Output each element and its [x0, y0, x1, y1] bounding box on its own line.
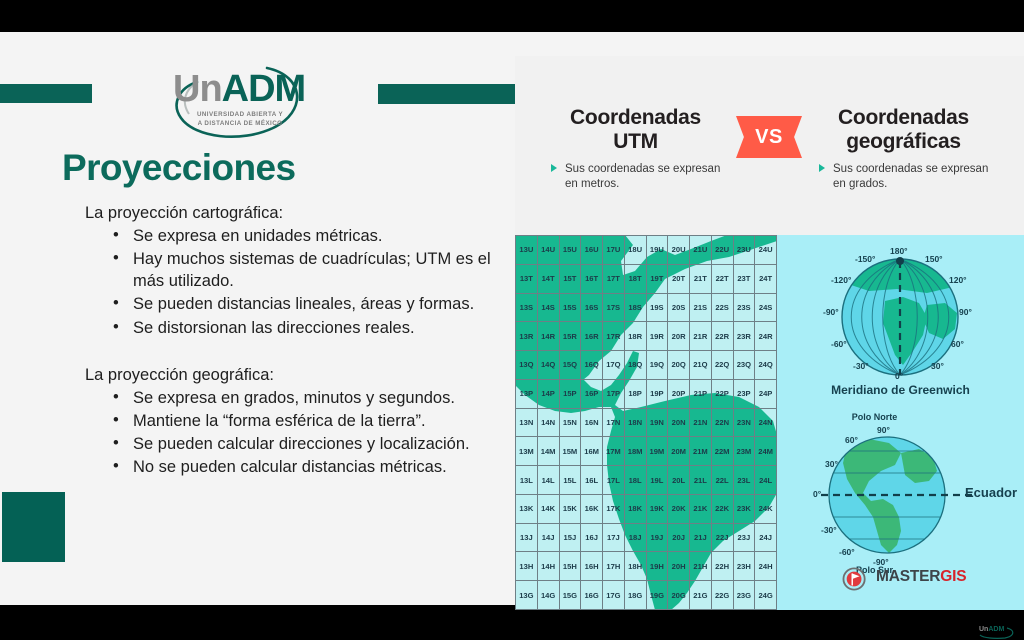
- utm-grid-cell: 13U: [516, 236, 538, 265]
- utm-grid-cell: 14Q: [537, 351, 559, 380]
- bullet-glyph: •: [113, 386, 119, 408]
- utm-grid-cell: 13T: [516, 264, 538, 293]
- utm-grid-cell: 22Q: [711, 351, 733, 380]
- utm-grid-cell: 21H: [690, 552, 712, 581]
- label-60: 60°: [845, 435, 858, 445]
- logo-subtitle-line2: A DISTANCIA DE MÉXICO: [180, 120, 300, 129]
- watermark-text: UnADM: [979, 626, 1004, 633]
- header-subtitle-utm: Sus coordenadas se expresan en metros.: [543, 162, 728, 191]
- utm-grid-cell: 17L: [603, 466, 625, 495]
- watermark-un-text: Un: [979, 626, 988, 633]
- utm-grid-cell: 22S: [711, 293, 733, 322]
- bullet-glyph: •: [113, 409, 119, 431]
- triangle-bullet-icon: [551, 164, 557, 172]
- mastergis-logo: MASTERGIS: [842, 565, 982, 591]
- decor-bar-left: [0, 84, 92, 103]
- utm-grid-cell: 21M: [690, 437, 712, 466]
- label-90: 90°: [877, 425, 890, 435]
- utm-grid-cell: 14T: [537, 264, 559, 293]
- utm-grid-cell: 20R: [668, 322, 690, 351]
- globe-bottom-caption-top: Polo Norte: [751, 412, 998, 422]
- utm-grid-cell: 21P: [690, 379, 712, 408]
- utm-grid-cell: 14R: [537, 322, 559, 351]
- utm-grid-cell: 24M: [755, 437, 777, 466]
- utm-grid-cell: 17S: [603, 293, 625, 322]
- label-30: 30°: [825, 459, 838, 469]
- bullet-glyph: •: [113, 292, 119, 314]
- utm-grid-cell: 15P: [559, 379, 581, 408]
- text-block-cartografica: La proyección cartográfica: •Se expresa …: [85, 202, 505, 340]
- logo-wordmark: UnADM: [173, 70, 305, 108]
- utm-grid-cell: 15K: [559, 494, 581, 523]
- utm-grid-cell: 19G: [646, 581, 668, 610]
- label-0: 0°: [813, 489, 821, 499]
- utm-grid-cell: 18J: [624, 523, 646, 552]
- utm-grid-cell: 19S: [646, 293, 668, 322]
- utm-grid-cell: 14P: [537, 379, 559, 408]
- section-lead: La proyección cartográfica:: [85, 202, 505, 224]
- label-neg60: -60°: [839, 547, 855, 557]
- utm-grid-cell: 14U: [537, 236, 559, 265]
- utm-grid-cell: 21Q: [690, 351, 712, 380]
- utm-grid-cell: 21N: [690, 408, 712, 437]
- utm-grid-cell: 23S: [733, 293, 755, 322]
- header-title-utm: Coordenadas UTM: [543, 106, 728, 153]
- utm-grid-cell: 24S: [755, 293, 777, 322]
- list-item: •No se pueden calcular distancias métric…: [85, 456, 505, 478]
- utm-grid-cell: 20G: [668, 581, 690, 610]
- label-neg120: -120°: [831, 275, 851, 285]
- utm-grid-cell: 16M: [581, 437, 603, 466]
- utm-grid-cell: 23J: [733, 523, 755, 552]
- utm-grid-cell: 19L: [646, 466, 668, 495]
- utm-grid-cell: 18Q: [624, 351, 646, 380]
- utm-grid-row: 13J14J15J16J17J18J19J20J21J22J23J24J: [516, 523, 777, 552]
- header-title-geo-line2: geográficas: [811, 130, 996, 154]
- utm-grid-cell: 14H: [537, 552, 559, 581]
- list-item-label: Mantiene la “forma esférica de la tierra…: [133, 412, 426, 430]
- utm-grid-cell: 18M: [624, 437, 646, 466]
- utm-grid-cell: 24L: [755, 466, 777, 495]
- utm-grid-cell: 20J: [668, 523, 690, 552]
- utm-grid-cell: 21T: [690, 264, 712, 293]
- header-column-utm: Coordenadas UTM Sus coordenadas se expre…: [543, 106, 728, 191]
- utm-grid-cell: 22N: [711, 408, 733, 437]
- label-180: 180°: [890, 246, 908, 256]
- utm-grid-cell: 16R: [581, 322, 603, 351]
- utm-grid-cell: 13P: [516, 379, 538, 408]
- bullet-list-cartografica: •Se expresa en unidades métricas. •Hay m…: [85, 225, 505, 339]
- list-item-label: Se distorsionan las direcciones reales.: [133, 319, 415, 337]
- utm-grid-cell: 14L: [537, 466, 559, 495]
- utm-grid-cell: 16L: [581, 466, 603, 495]
- utm-grid-cell: 15T: [559, 264, 581, 293]
- vs-badge: VS: [736, 116, 802, 158]
- utm-grid-row: 13G14G15G16G17G18G19G20G21G22G23G24G: [516, 581, 777, 610]
- utm-grid-map: 13U14U15U16U17U18U19U20U21U22U23U24U13T1…: [515, 235, 777, 610]
- label-150: 150°: [925, 254, 943, 264]
- label-60: 60°: [951, 339, 964, 349]
- utm-grid-cell: 24P: [755, 379, 777, 408]
- label-neg150: -150°: [855, 254, 875, 264]
- utm-grid-cell: 24R: [755, 322, 777, 351]
- utm-grid-row: 13M14M15M16M17M18M19M20M21M22M23M24M: [516, 437, 777, 466]
- utm-grid-cell: 15U: [559, 236, 581, 265]
- list-item: •Se pueden distancias lineales, áreas y …: [85, 293, 505, 315]
- utm-grid-cell: 14S: [537, 293, 559, 322]
- utm-grid-cell: 15M: [559, 437, 581, 466]
- utm-grid-cell: 22P: [711, 379, 733, 408]
- utm-grid-cell: 17G: [603, 581, 625, 610]
- utm-grid-cell: 23R: [733, 322, 755, 351]
- utm-grid-cell: 23K: [733, 494, 755, 523]
- utm-grid-cell: 13R: [516, 322, 538, 351]
- utm-grid-cell: 20N: [668, 408, 690, 437]
- list-item: •Se expresa en grados, minutos y segundo…: [85, 387, 505, 409]
- utm-grid-cell: 20K: [668, 494, 690, 523]
- utm-grid-cell: 15G: [559, 581, 581, 610]
- decor-square-bottom-left: [2, 492, 65, 562]
- page-title: Proyecciones: [62, 147, 295, 189]
- infographic-panel: Coordenadas UTM Sus coordenadas se expre…: [515, 56, 1024, 605]
- infographic-header: Coordenadas UTM Sus coordenadas se expre…: [515, 106, 1024, 206]
- utm-grid-cell: 15H: [559, 552, 581, 581]
- utm-grid-cell: 18N: [624, 408, 646, 437]
- utm-grid-cell: 13M: [516, 437, 538, 466]
- letterbox-top: [0, 0, 1024, 32]
- utm-grid-cell: 16P: [581, 379, 603, 408]
- utm-grid-cell: 19J: [646, 523, 668, 552]
- utm-grid-cell: 22G: [711, 581, 733, 610]
- utm-grid-cell: 18K: [624, 494, 646, 523]
- utm-grid-cell: 22H: [711, 552, 733, 581]
- utm-grid-cell: 14G: [537, 581, 559, 610]
- utm-grid-cell: 17T: [603, 264, 625, 293]
- label-neg30: -30°: [821, 525, 837, 535]
- mastergis-globe-icon: [842, 567, 868, 591]
- utm-grid-cell: 17K: [603, 494, 625, 523]
- utm-grid-cell: 23G: [733, 581, 755, 610]
- utm-grid-cell: 18T: [624, 264, 646, 293]
- utm-grid-cell: 16Q: [581, 351, 603, 380]
- utm-grid-cell: 13L: [516, 466, 538, 495]
- list-item: •Se distorsionan las direcciones reales.: [85, 317, 505, 339]
- utm-grid-row: 13Q14Q15Q16Q17Q18Q19Q20Q21Q22Q23Q24Q: [516, 351, 777, 380]
- utm-grid-cell: 18P: [624, 379, 646, 408]
- utm-grid-row: 13P14P15P16P17P18P19P20P21P22P23P24P: [516, 379, 777, 408]
- list-item-label: Hay muchos sistemas de cuadrículas; UTM …: [133, 250, 491, 290]
- utm-grid-cell: 19R: [646, 322, 668, 351]
- utm-grid-cell: 15L: [559, 466, 581, 495]
- label-ecuador: Ecuador: [965, 485, 1017, 500]
- utm-grid-cell: 13Q: [516, 351, 538, 380]
- triangle-bullet-icon: [819, 164, 825, 172]
- utm-grid-row: 13T14T15T16T17T18T19T20T21T22T23T24T: [516, 264, 777, 293]
- label-neg90: -90°: [823, 307, 839, 317]
- utm-grid-cell: 14N: [537, 408, 559, 437]
- utm-grid-cell: 24J: [755, 523, 777, 552]
- utm-grid-cell: 18U: [624, 236, 646, 265]
- header-subtitle-geografica: Sus coordenadas se expresan en grados.: [811, 162, 996, 191]
- utm-grid-cell: 14M: [537, 437, 559, 466]
- utm-grid-cell: 19K: [646, 494, 668, 523]
- utm-grid-row: 13L14L15L16L17L18L19L20L21L22L23L24L: [516, 466, 777, 495]
- utm-grid-cell: 14J: [537, 523, 559, 552]
- label-0: 0°: [895, 371, 903, 381]
- utm-grid-row: 13R14R15R16R17R18R19R20R21R22R23R24R: [516, 322, 777, 351]
- utm-grid-cell: 13H: [516, 552, 538, 581]
- label-90: 90°: [959, 307, 972, 317]
- utm-grid-cell: 21J: [690, 523, 712, 552]
- unadm-logo: UnADM UNIVERSIDAD ABIERTA Y A DISTANCIA …: [155, 62, 325, 144]
- utm-grid-cell: 18L: [624, 466, 646, 495]
- utm-grid-cell: 20M: [668, 437, 690, 466]
- utm-grid-cell: 17Q: [603, 351, 625, 380]
- label-neg60: -60°: [831, 339, 847, 349]
- logo-subtitle-line1: UNIVERSIDAD ABIERTA Y: [180, 111, 300, 120]
- utm-grid-cell: 23L: [733, 466, 755, 495]
- utm-grid-cell: 23T: [733, 264, 755, 293]
- presentation-slide: UnADM UNIVERSIDAD ABIERTA Y A DISTANCIA …: [0, 32, 1024, 605]
- logo-subtitle: UNIVERSIDAD ABIERTA Y A DISTANCIA DE MÉX…: [180, 111, 300, 129]
- globe-top-degree-labels: 180° -150° 150° -120° 120° -90° 90° -60°…: [777, 235, 1024, 405]
- utm-grid-cell: 17R: [603, 322, 625, 351]
- utm-grid-cell: 15Q: [559, 351, 581, 380]
- utm-grid-cell: 16U: [581, 236, 603, 265]
- list-item: •Se pueden calcular direcciones y locali…: [85, 433, 505, 455]
- bullet-glyph: •: [113, 455, 119, 477]
- bullet-glyph: •: [113, 316, 119, 338]
- utm-grid-cell: 16K: [581, 494, 603, 523]
- utm-grid-cell: 16S: [581, 293, 603, 322]
- mastergis-master-text: MASTER: [876, 568, 940, 585]
- list-item: •Se expresa en unidades métricas.: [85, 225, 505, 247]
- utm-grid-cell: 14K: [537, 494, 559, 523]
- utm-grid-cell: 22M: [711, 437, 733, 466]
- utm-grid-cell: 15J: [559, 523, 581, 552]
- utm-grid-cell: 24Q: [755, 351, 777, 380]
- utm-grid-cell: 17N: [603, 408, 625, 437]
- utm-grid-cell: 18R: [624, 322, 646, 351]
- utm-grid-cell: 21U: [690, 236, 712, 265]
- utm-grid-row: 13U14U15U16U17U18U19U20U21U22U23U24U: [516, 236, 777, 265]
- label-120: 120°: [949, 275, 967, 285]
- utm-grid-cell: 24G: [755, 581, 777, 610]
- header-title-geo-line1: Coordenadas: [811, 106, 996, 130]
- utm-grid-cell: 22T: [711, 264, 733, 293]
- utm-grid-cell: 24K: [755, 494, 777, 523]
- mastergis-wordmark: MASTERGIS: [876, 568, 966, 586]
- utm-grid-cell: 17H: [603, 552, 625, 581]
- utm-grid-cell: 16J: [581, 523, 603, 552]
- utm-grid-cell: 16N: [581, 408, 603, 437]
- list-item-label: Se pueden calcular direcciones y localiz…: [133, 435, 470, 453]
- utm-grid-cell: 15R: [559, 322, 581, 351]
- globe-top-caption: Meridiano de Greenwich: [777, 383, 1024, 397]
- header-title-utm-line2: UTM: [543, 130, 728, 154]
- utm-grid-cell: 24T: [755, 264, 777, 293]
- header-subtitle-utm-text: Sus coordenadas se expresan en metros.: [565, 163, 720, 190]
- header-subtitle-geo-text: Sus coordenadas se expresan en grados.: [833, 163, 988, 190]
- utm-grid-cell: 17U: [603, 236, 625, 265]
- utm-grid-cell: 17J: [603, 523, 625, 552]
- utm-grid-row: 13S14S15S16S17S18S19S20S21S22S23S24S: [516, 293, 777, 322]
- logo-un-text: Un: [173, 68, 222, 110]
- utm-grid-cell: 20H: [668, 552, 690, 581]
- utm-grid-cell: 23U: [733, 236, 755, 265]
- utm-grid-cell: 20L: [668, 466, 690, 495]
- utm-grid-cell: 13J: [516, 523, 538, 552]
- globe-bottom-degree-labels: 90° 60° 30° 0° -30° -60° -90° Ecuador: [777, 405, 1024, 580]
- utm-grid-cell: 22K: [711, 494, 733, 523]
- vs-label: VS: [736, 116, 802, 158]
- utm-grid-cell: 23Q: [733, 351, 755, 380]
- header-title-geografica: Coordenadas geográficas: [811, 106, 996, 153]
- utm-grid-cell: 20U: [668, 236, 690, 265]
- utm-grid-cell: 22R: [711, 322, 733, 351]
- utm-grid-cell: 19U: [646, 236, 668, 265]
- list-item-label: Se pueden distancias lineales, áreas y f…: [133, 295, 474, 313]
- list-item-label: No se pueden calcular distancias métrica…: [133, 458, 447, 476]
- bullet-list-geografica: •Se expresa en grados, minutos y segundo…: [85, 387, 505, 478]
- utm-grid-cell: 21L: [690, 466, 712, 495]
- utm-grid-cell: 13S: [516, 293, 538, 322]
- video-frame: UnADM UNIVERSIDAD ABIERTA Y A DISTANCIA …: [0, 0, 1024, 640]
- utm-grid-cell: 21G: [690, 581, 712, 610]
- utm-grid-cell: 20Q: [668, 351, 690, 380]
- utm-grid-cell: 17M: [603, 437, 625, 466]
- text-block-geografica: La proyección geográfica: •Se expresa en…: [85, 364, 505, 480]
- mastergis-gis-text: GIS: [940, 568, 966, 585]
- logo-adm-text: ADM: [222, 68, 306, 110]
- utm-grid-cell: 13N: [516, 408, 538, 437]
- utm-grid-cell: 15S: [559, 293, 581, 322]
- utm-grid-cell: 18S: [624, 293, 646, 322]
- label-neg30: -30°: [853, 361, 869, 371]
- utm-grid-cell: 22J: [711, 523, 733, 552]
- utm-grid-cell: 19H: [646, 552, 668, 581]
- header-column-geografica: Coordenadas geográficas Sus coordenadas …: [811, 106, 996, 191]
- label-30: 30°: [931, 361, 944, 371]
- decor-bar-right: [378, 84, 515, 104]
- list-item: •Mantiene la “forma esférica de la tierr…: [85, 410, 505, 432]
- utm-grid-cell: 15N: [559, 408, 581, 437]
- utm-grid-cell: 22U: [711, 236, 733, 265]
- globes-panel: 180° -150° 150° -120° 120° -90° 90° -60°…: [777, 235, 1024, 610]
- bullet-glyph: •: [113, 247, 119, 269]
- utm-grid-cell: 17P: [603, 379, 625, 408]
- bullet-glyph: •: [113, 224, 119, 246]
- utm-grid-cell: 23M: [733, 437, 755, 466]
- utm-grid-row: 13H14H15H16H17H18H19H20H21H22H23H24H: [516, 552, 777, 581]
- utm-grid-cell: 24U: [755, 236, 777, 265]
- utm-grid-cell: 16H: [581, 552, 603, 581]
- section-lead: La proyección geográfica:: [85, 364, 505, 386]
- utm-grid-table: 13U14U15U16U17U18U19U20U21U22U23U24U13T1…: [515, 235, 777, 610]
- utm-grid-cell: 20S: [668, 293, 690, 322]
- utm-grid-cell: 20T: [668, 264, 690, 293]
- list-item: •Hay muchos sistemas de cuadrículas; UTM…: [85, 248, 505, 292]
- utm-grid-cell: 13G: [516, 581, 538, 610]
- utm-grid-cell: 21R: [690, 322, 712, 351]
- utm-grid-cell: 19M: [646, 437, 668, 466]
- utm-grid-cell: 21K: [690, 494, 712, 523]
- utm-grid-cell: 19Q: [646, 351, 668, 380]
- utm-grid-row: 13K14K15K16K17K18K19K20K21K22K23K24K: [516, 494, 777, 523]
- utm-grid-cell: 20P: [668, 379, 690, 408]
- utm-grid-cell: 19N: [646, 408, 668, 437]
- utm-grid-cell: 13K: [516, 494, 538, 523]
- utm-grid-cell: 19T: [646, 264, 668, 293]
- list-item-label: Se expresa en unidades métricas.: [133, 227, 382, 245]
- utm-grid-cell: 23P: [733, 379, 755, 408]
- watermark-adm-text: ADM: [988, 626, 1004, 633]
- utm-grid-cell: 16T: [581, 264, 603, 293]
- utm-grid-cell: 19P: [646, 379, 668, 408]
- letterbox-bottom: [0, 605, 1024, 640]
- header-title-utm-line1: Coordenadas: [543, 106, 728, 130]
- utm-grid-row: 13N14N15N16N17N18N19N20N21N22N23N24N: [516, 408, 777, 437]
- utm-grid-cell: 18G: [624, 581, 646, 610]
- utm-grid-cell: 18H: [624, 552, 646, 581]
- bullet-glyph: •: [113, 432, 119, 454]
- utm-grid-cell: 22L: [711, 466, 733, 495]
- unadm-watermark: UnADM: [975, 626, 1019, 639]
- utm-grid-cell: 16G: [581, 581, 603, 610]
- list-item-label: Se expresa en grados, minutos y segundos…: [133, 389, 455, 407]
- utm-grid-cell: 21S: [690, 293, 712, 322]
